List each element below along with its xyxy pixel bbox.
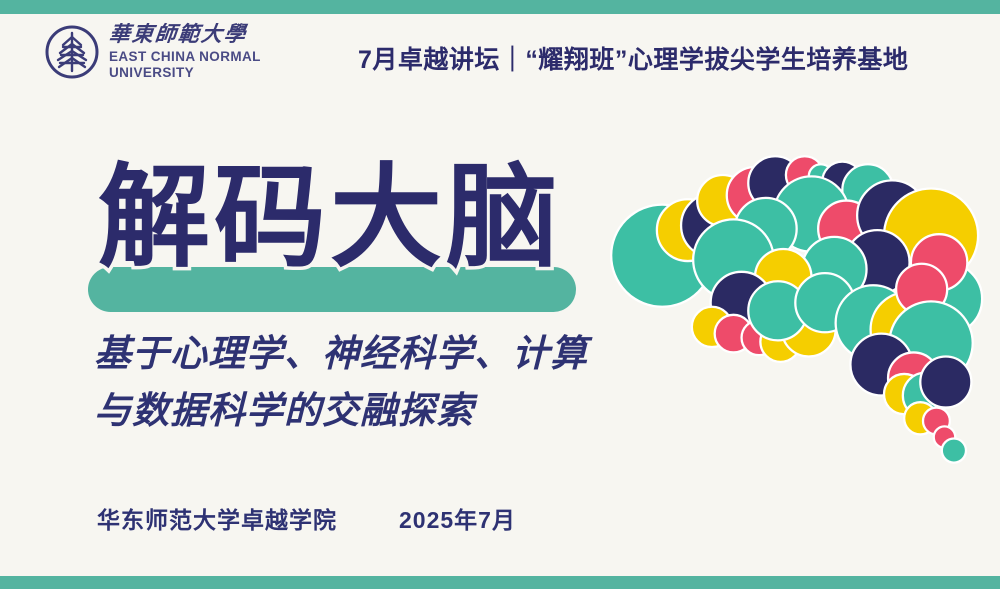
top-accent-bar xyxy=(0,0,1000,14)
logo-wordmark: 華東師範大學 EAST CHINA NORMAL UNIVERSITY xyxy=(109,24,269,81)
footer-organization: 华东师范大学卓越学院 xyxy=(97,501,337,535)
logo-name-cn: 華東師範大學 xyxy=(108,24,270,45)
bottom-accent-bar xyxy=(0,576,1000,589)
ecnu-tree-emblem-icon xyxy=(44,24,100,80)
poster-header: 華東師範大學 EAST CHINA NORMAL UNIVERSITY 7月卓越… xyxy=(0,14,1000,92)
brain-circle xyxy=(920,356,971,407)
page-title: 解码大脑 xyxy=(98,155,562,280)
footer-date: 2025年7月 xyxy=(399,501,516,535)
poster-footer: 华东师范大学卓越学院 2025年7月 xyxy=(97,501,516,535)
poster-root: 華東師範大學 EAST CHINA NORMAL UNIVERSITY 7月卓越… xyxy=(0,0,1000,589)
logo-name-en: EAST CHINA NORMAL UNIVERSITY xyxy=(109,49,269,81)
brain-circles-illustration xyxy=(596,128,1000,464)
brain-circle xyxy=(942,438,966,462)
event-banner-title: 7月卓越讲坛｜“耀翔班”心理学拔尖学生培养基地 xyxy=(358,40,908,76)
university-logo: 華東師範大學 EAST CHINA NORMAL UNIVERSITY xyxy=(44,24,269,81)
